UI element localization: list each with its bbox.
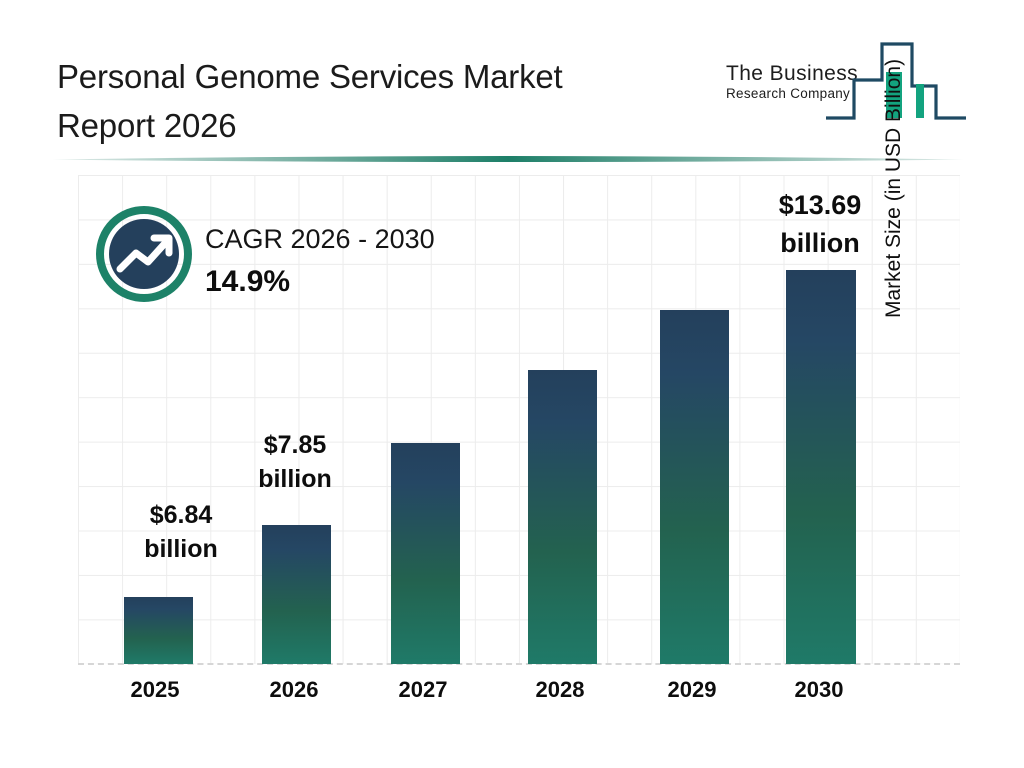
bar-2026: [262, 525, 331, 664]
x-tick-2029: 2029: [637, 677, 747, 703]
x-tick-2028: 2028: [505, 677, 615, 703]
x-tick-2030: 2030: [764, 677, 874, 703]
bar-2025: [124, 597, 193, 664]
cagr-value: 14.9%: [205, 265, 290, 299]
cagr-badge: CAGR 2026 - 2030 14.9%: [96, 206, 516, 306]
title-divider: [52, 152, 964, 166]
bar-2030: [786, 270, 856, 664]
y-axis-title: Market Size (in USD Billion): [882, 0, 906, 318]
value-label-2025: $6.84 billion: [101, 498, 261, 566]
bar-2028: [528, 370, 597, 664]
x-tick-2027: 2027: [368, 677, 478, 703]
value-label-2030: $13.69 billion: [740, 186, 900, 262]
x-tick-2025: 2025: [100, 677, 210, 703]
bar-2027: [391, 443, 460, 664]
trending-up-icon: [96, 206, 192, 302]
bar-2029: [660, 310, 729, 664]
chart-page: Personal Genome Services Market Report 2…: [0, 0, 1024, 768]
x-tick-2026: 2026: [239, 677, 349, 703]
page-title: Personal Genome Services Market Report 2…: [57, 52, 697, 150]
company-logo: The Business Research Company: [718, 34, 970, 126]
value-label-2026: $7.85 billion: [215, 428, 375, 496]
cagr-period-label: CAGR 2026 - 2030: [205, 224, 435, 255]
